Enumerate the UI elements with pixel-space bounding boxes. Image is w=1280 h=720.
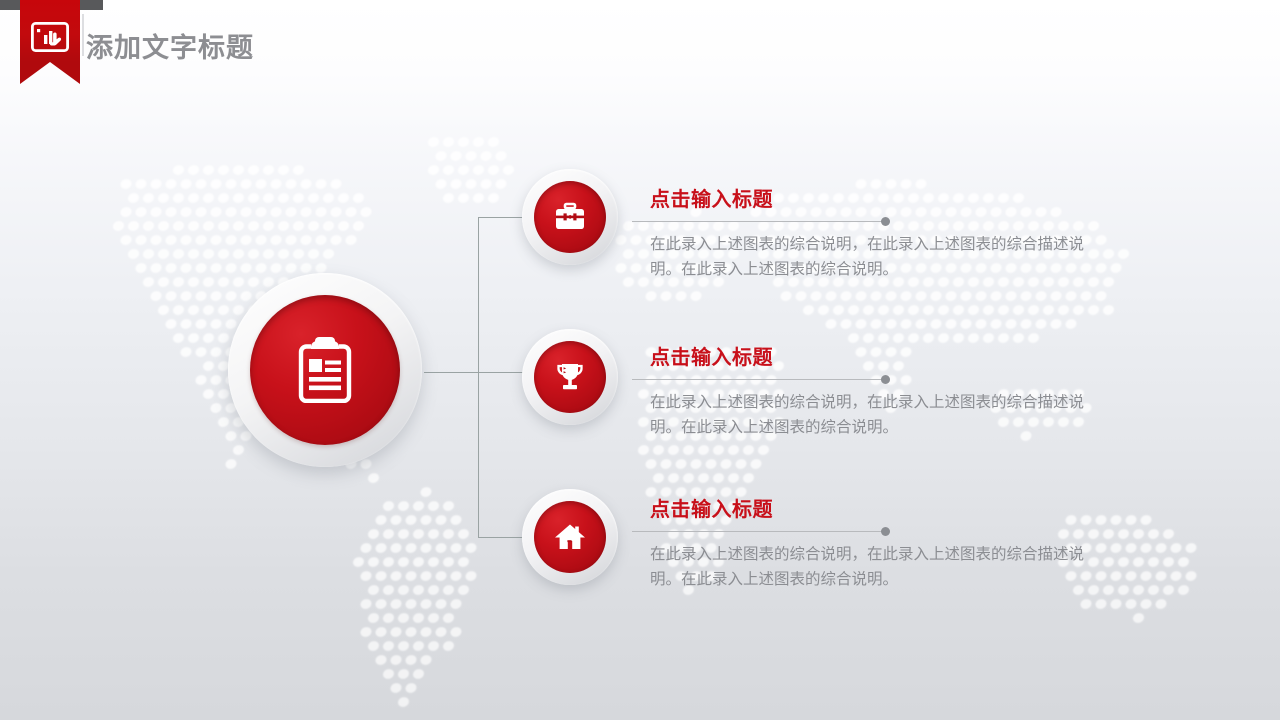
- center-node-disc: [250, 295, 400, 445]
- node-circle-2[interactable]: [522, 329, 618, 425]
- header-ribbon: [20, 0, 80, 62]
- connector-center-stem: [424, 372, 478, 373]
- item-rule-3: [650, 527, 1100, 536]
- item-title-3[interactable]: 点击输入标题: [650, 496, 1100, 522]
- item-rule-line-2: [632, 379, 885, 380]
- item-block-3: 点击输入标题 在此录入上述图表的综合说明，在此录入上述图表的综合描述说明。在此录…: [650, 496, 1100, 592]
- item-block-1: 点击输入标题 在此录入上述图表的综合说明，在此录入上述图表的综合描述说明。在此录…: [650, 186, 1100, 282]
- item-body-2[interactable]: 在此录入上述图表的综合说明，在此录入上述图表的综合描述说明。在此录入上述图表的综…: [650, 390, 1100, 440]
- presentation-chart-hand-icon: [31, 22, 69, 52]
- item-rule-dot-1: [881, 217, 890, 226]
- item-body-1[interactable]: 在此录入上述图表的综合说明，在此录入上述图表的综合描述说明。在此录入上述图表的综…: [650, 232, 1100, 282]
- briefcase-toolbox-icon: [554, 201, 586, 233]
- item-rule-dot-3: [881, 527, 890, 536]
- connector-branch-top: [478, 217, 528, 218]
- item-block-2: 点击输入标题 在此录入上述图表的综合说明，在此录入上述图表的综合描述说明。在此录…: [650, 344, 1100, 440]
- item-title-2[interactable]: 点击输入标题: [650, 344, 1100, 370]
- node-disc-2: [534, 341, 606, 413]
- node-disc-3: [534, 501, 606, 573]
- item-body-3[interactable]: 在此录入上述图表的综合说明，在此录入上述图表的综合描述说明。在此录入上述图表的综…: [650, 542, 1100, 592]
- page-title: 添加文字标题: [86, 26, 254, 65]
- item-rule-dot-2: [881, 375, 890, 384]
- node-disc-1: [534, 181, 606, 253]
- node-circle-1[interactable]: [522, 169, 618, 265]
- item-rule-line-1: [632, 221, 885, 222]
- node-circle-3[interactable]: [522, 489, 618, 585]
- connector-branch-bottom: [478, 537, 528, 538]
- house-home-icon: [554, 521, 586, 553]
- item-rule-1: [650, 217, 1100, 226]
- slide-canvas: 点击输入标题 在此录入上述图表的综合说明，在此录入上述图表的综合描述说明。在此录…: [0, 0, 1280, 720]
- item-title-1[interactable]: 点击输入标题: [650, 186, 1100, 212]
- clipboard-checklist-icon: [297, 337, 353, 403]
- connector-vertical-spine: [478, 217, 479, 538]
- header-title-divider: [82, 14, 84, 56]
- item-rule-line-3: [632, 531, 885, 532]
- center-node-circle[interactable]: [228, 273, 422, 467]
- item-rule-2: [650, 375, 1100, 384]
- connector-branch-middle: [478, 372, 528, 373]
- trophy-icon: [554, 361, 586, 393]
